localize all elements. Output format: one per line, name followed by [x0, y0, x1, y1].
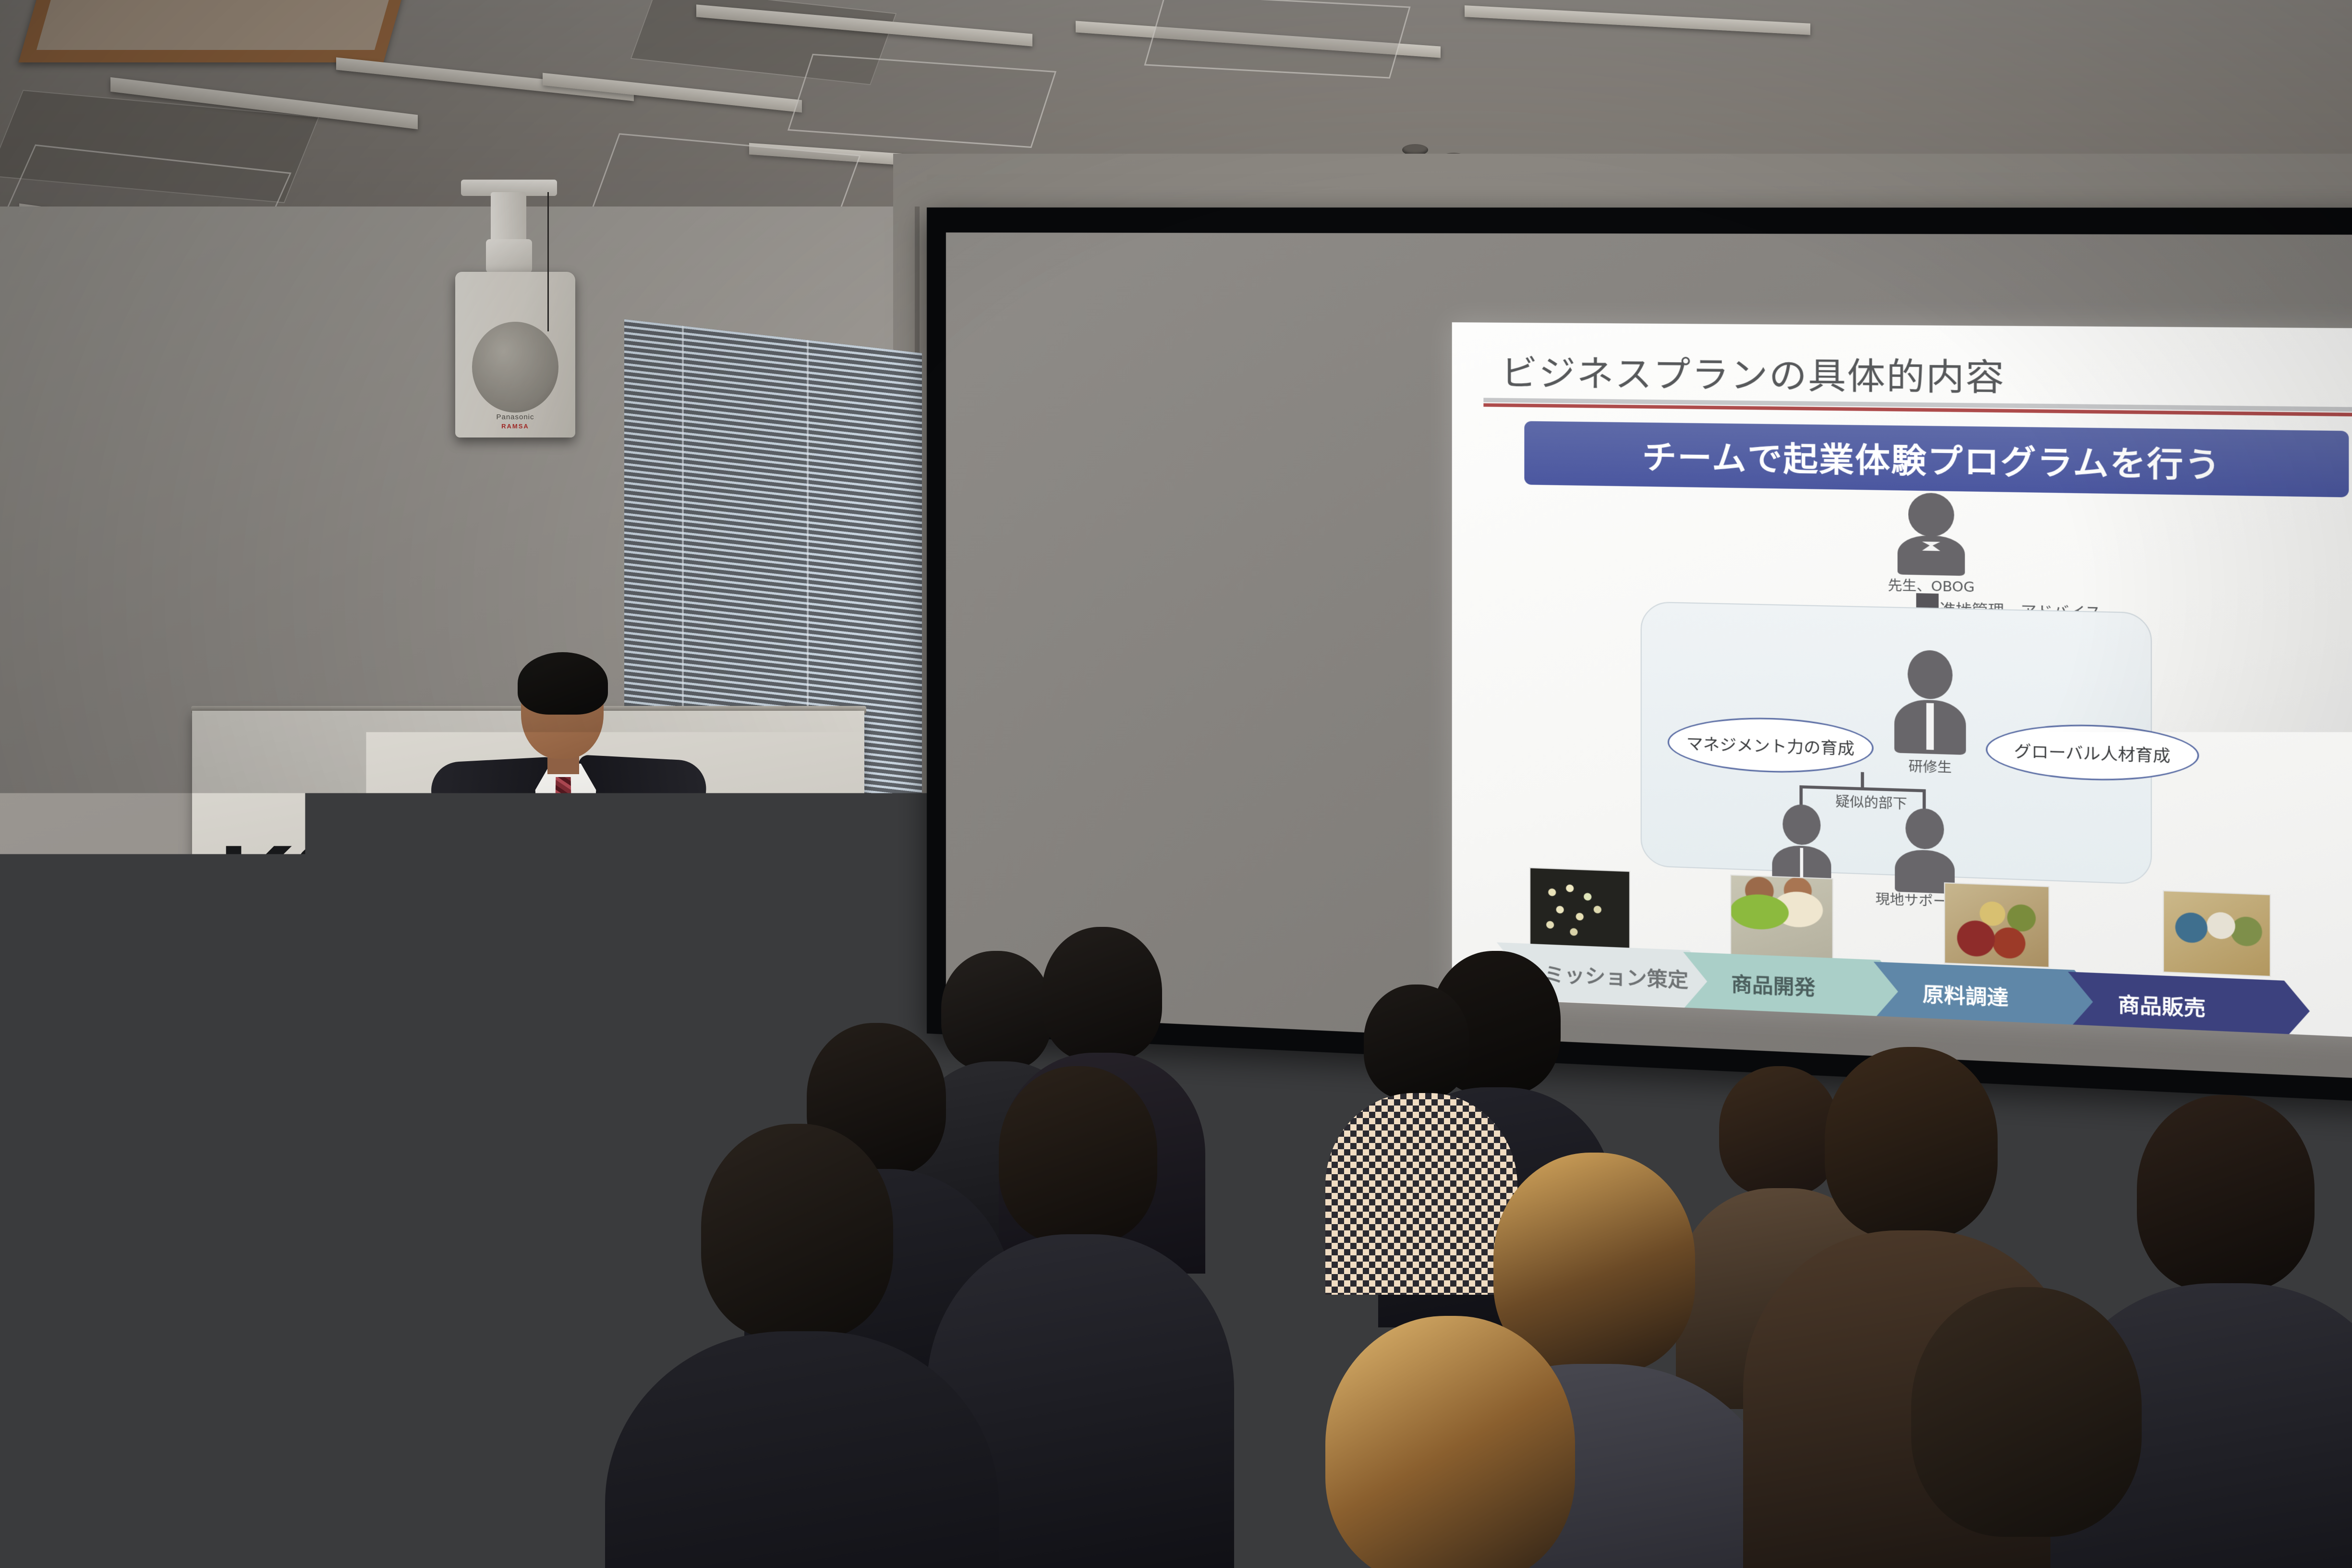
trainee-figure-icon: [1893, 649, 1968, 742]
slide-photo-thumbnail: [2163, 890, 2271, 977]
projection-screen-surface: ビジネスプランの具体的内容 チームで起業体験プログラムを行う 先生、OBOG 進…: [946, 232, 2352, 1082]
slide-photo-thumbnail: [1730, 875, 1833, 959]
speaker-cone-icon: [472, 322, 558, 413]
presentation-room-photo: Panasonic RAMSA ビジネスプランの具体的内容 チームで起業体験プロ…: [0, 0, 2352, 1568]
projected-slide: ビジネスプランの具体的内容 チームで起業体験プログラムを行う 先生、OBOG 進…: [1452, 322, 2352, 1041]
slide-title: ビジネスプランの具体的内容: [1501, 343, 2005, 401]
process-step-label: 原料調達: [1923, 978, 2009, 1011]
local-supporter-figure-icon: [1891, 807, 1959, 886]
process-step-label: ミッション策定: [1544, 958, 1688, 993]
speaker-brand-label: Panasonic: [455, 413, 575, 421]
teacher-figure-label: 先生、OBOG: [1888, 574, 1975, 596]
subordinate-bracket: [1452, 322, 2352, 328]
teacher-figure-icon: [1894, 492, 1969, 570]
management-skill-label: マネジメント力の育成: [1686, 731, 1855, 759]
process-step-chevron: 商品販売: [2068, 972, 2310, 1040]
process-step-chevron: 商品開発: [1683, 952, 1904, 1019]
process-step-chevron: 原料調達: [1874, 962, 2099, 1030]
microphone-stem: [570, 922, 575, 1071]
slide-banner-text: チームで起業体験プログラムを行う: [1642, 430, 2222, 487]
speaker-series-label: RAMSA: [455, 423, 575, 430]
process-step-label: 商品開発: [1731, 968, 1815, 1001]
down-arrow-icon: [1452, 322, 2352, 328]
slide-photo-thumbnail: [1944, 882, 2049, 968]
trainee-figure-label: 研修生: [1908, 755, 1952, 777]
process-step-label: 商品販売: [2118, 988, 2206, 1022]
slide-photo-thumbnail: [1529, 867, 1630, 951]
global-talent-label: グローバル人材育成: [2014, 739, 2170, 767]
k2s-logo-text: K2S: [219, 835, 416, 930]
ceiling-wood-panel: [18, 0, 404, 62]
slide-banner: チームで起業体験プログラムを行う: [1524, 421, 2349, 498]
student-figure-icon: [1768, 803, 1836, 881]
ceiling-tile: [1144, 0, 1410, 79]
